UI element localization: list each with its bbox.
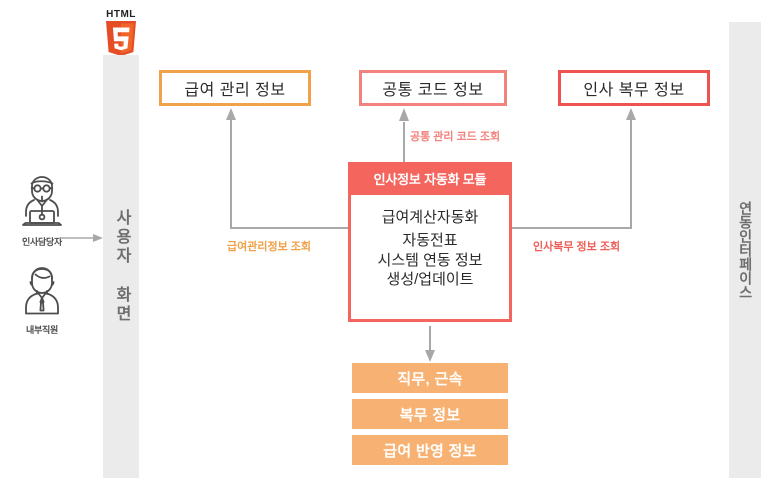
module-body-line-2: 자동전표 bbox=[351, 230, 509, 253]
box-duty-info[interactable]: 복무 정보 bbox=[352, 399, 508, 429]
box-common-code-info-label: 공통 코드 정보 bbox=[382, 76, 483, 100]
connector-label-payroll-query: 급여관리정보 조회 bbox=[227, 238, 311, 254]
box-payroll-management-info-label: 급여 관리 정보 bbox=[184, 76, 285, 100]
module-body-line-4: 생성/업데이트 bbox=[351, 271, 509, 290]
connector-label-hr-duty-query: 인사복무 정보 조회 bbox=[533, 238, 620, 254]
box-hr-duty-info[interactable]: 인사 복무 정보 bbox=[558, 70, 710, 106]
box-job-tenure-label: 직무, 근속 bbox=[397, 368, 462, 389]
module-hr-automation-header: 인사정보 자동화 모듈 bbox=[351, 165, 509, 195]
diagram-canvas: HTML 사용자 화면 연동인터페이스 bbox=[0, 0, 768, 478]
box-job-tenure[interactable]: 직무, 근속 bbox=[352, 363, 508, 393]
module-body-line-1: 급여계산자동화 bbox=[351, 207, 509, 230]
box-duty-info-label: 복무 정보 bbox=[400, 404, 461, 425]
connector-label-common-code-query: 공통 관리 코드 조회 bbox=[410, 128, 500, 144]
box-common-code-info[interactable]: 공통 코드 정보 bbox=[359, 70, 507, 106]
box-payroll-reflection-info-label: 급여 반영 정보 bbox=[383, 440, 477, 461]
module-hr-automation-body: 급여계산자동화 자동전표 시스템 연동 정보 생성/업데이트 bbox=[351, 195, 509, 290]
box-payroll-reflection-info[interactable]: 급여 반영 정보 bbox=[352, 435, 508, 465]
box-payroll-management-info[interactable]: 급여 관리 정보 bbox=[159, 70, 311, 106]
module-hr-automation[interactable]: 인사정보 자동화 모듈 급여계산자동화 자동전표 시스템 연동 정보 생성/업데… bbox=[348, 162, 512, 322]
module-body-line-3: 시스템 연동 정보 bbox=[351, 252, 509, 271]
box-hr-duty-info-label: 인사 복무 정보 bbox=[583, 76, 684, 100]
